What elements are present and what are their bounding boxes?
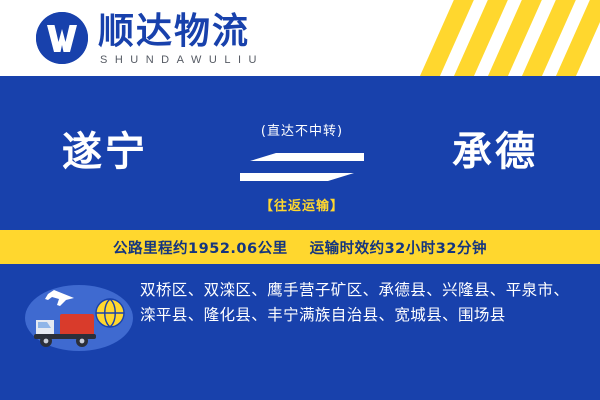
two-way-arrow-icon: [240, 147, 364, 189]
brand-name-cn: 顺达物流: [98, 13, 250, 51]
coverage-areas-text: 双桥区、双滦区、鹰手营子矿区、承德县、兴隆县、平泉市、滦平县、隆化县、丰宁满族自…: [140, 278, 580, 328]
brand-name-en: SHUNDAWULIU: [100, 54, 264, 66]
round-trip-note: 【往返运输】: [240, 195, 364, 214]
distance-text: 公路里程约1952.06公里: [113, 237, 288, 258]
coverage-section: 双桥区、双滦区、鹰手营子矿区、承德县、兴隆县、平泉市、滦平县、隆化县、丰宁满族自…: [0, 264, 600, 400]
header-stripes: [350, 0, 600, 76]
poster-header: 顺达物流 SHUNDAWULIU: [0, 0, 600, 76]
distance-duration-band: 公路里程约1952.06公里 运输时效约32小时32分钟: [0, 230, 600, 264]
duration-text: 运输时效约32小时32分钟: [310, 237, 487, 258]
direct-note: (直达不中转): [240, 120, 364, 139]
truck-globe-plane-icon: [24, 278, 134, 356]
route-middle: (直达不中转) 【往返运输】: [240, 120, 364, 214]
route-section: 遂宁 承德 (直达不中转) 【往返运输】: [0, 76, 600, 228]
origin-city: 遂宁: [62, 128, 148, 176]
logistics-route-poster: 顺达物流 SHUNDAWULIU 遂宁 承德 (直达不中转) 【往返运输】 公路…: [0, 0, 600, 400]
company-logo-icon: [36, 12, 88, 64]
destination-city: 承德: [452, 128, 538, 176]
